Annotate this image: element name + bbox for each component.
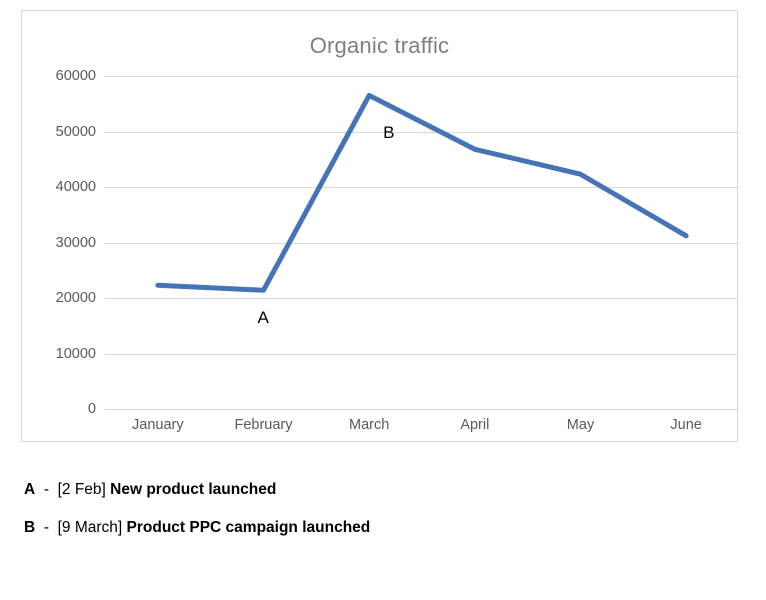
x-axis: JanuaryFebruaryMarchAprilMayJune bbox=[105, 417, 739, 445]
y-axis-tick-label: 0 bbox=[26, 401, 96, 417]
chart-annotation-marker-b: B bbox=[383, 123, 394, 143]
y-axis-tick-label: 20000 bbox=[26, 290, 96, 306]
x-axis-tick-label: June bbox=[670, 417, 701, 433]
plot-area: AB bbox=[105, 76, 739, 409]
annotation-caption-date: [2 Feb] bbox=[58, 481, 106, 498]
y-axis-tick-label: 30000 bbox=[26, 235, 96, 251]
chart-title: Organic traffic bbox=[22, 33, 737, 59]
gridline bbox=[105, 409, 739, 410]
x-axis-tick-label: April bbox=[460, 417, 489, 433]
y-axis-tick-label: 50000 bbox=[26, 124, 96, 140]
y-axis-tick-label: 10000 bbox=[26, 346, 96, 362]
y-axis-tick-label: 60000 bbox=[26, 68, 96, 84]
annotation-caption-row: B - [9 March] Product PPC campaign launc… bbox=[24, 518, 724, 538]
chart-annotation-marker-a: A bbox=[258, 308, 269, 328]
annotation-caption-date: [9 March] bbox=[58, 519, 123, 536]
annotation-caption-row: A - [2 Feb] New product launched bbox=[24, 480, 724, 500]
x-axis-tick-label: March bbox=[349, 417, 389, 433]
x-axis-tick-label: February bbox=[234, 417, 292, 433]
chart-frame: Organic traffic 010000200003000040000500… bbox=[21, 10, 738, 442]
annotation-caption-text: Product PPC campaign launched bbox=[122, 519, 370, 536]
annotation-caption-dash: - bbox=[35, 481, 57, 498]
line-series bbox=[105, 76, 739, 409]
x-axis-tick-label: May bbox=[567, 417, 594, 433]
x-axis-tick-label: January bbox=[132, 417, 184, 433]
annotation-caption-text: New product launched bbox=[106, 481, 277, 498]
annotation-caption-key: B bbox=[24, 519, 35, 536]
annotation-caption-dash: - bbox=[35, 519, 57, 536]
annotation-legend: A - [2 Feb] New product launchedB - [9 M… bbox=[24, 480, 724, 556]
y-axis: 0100002000030000400005000060000 bbox=[22, 76, 96, 409]
annotation-caption-key: A bbox=[24, 481, 35, 498]
y-axis-tick-label: 40000 bbox=[26, 179, 96, 195]
